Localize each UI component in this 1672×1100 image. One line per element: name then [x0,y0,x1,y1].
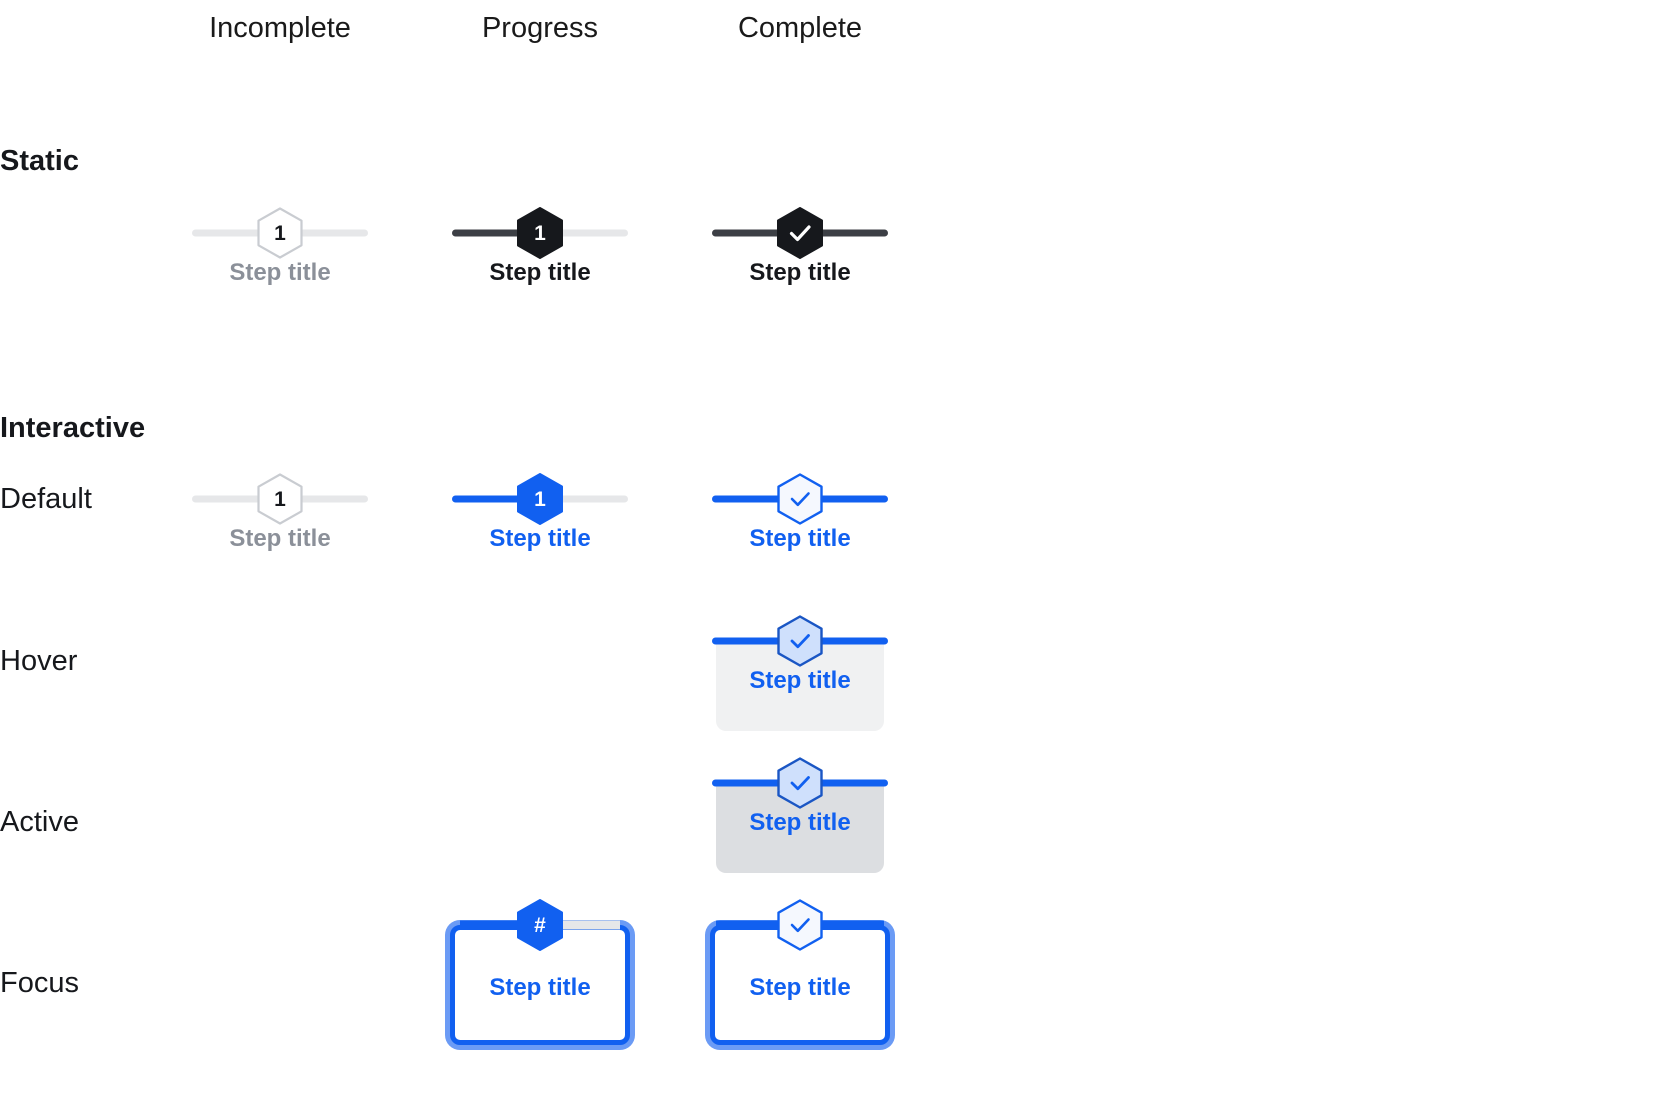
step-static-incomplete: 1 Step title [150,163,410,303]
step-title[interactable]: Step title [410,525,670,553]
row-label-focus: Focus [0,967,79,1000]
row-label-default: Default [0,483,92,516]
step-title[interactable]: Step title [670,667,930,695]
step-static-complete: Step title [670,163,930,303]
step-focus-progress[interactable]: Step title # [410,855,670,995]
hexagon-node-incomplete[interactable]: 1 [257,473,303,525]
hexagon-node-incomplete: 1 [257,207,303,259]
step-hover-complete[interactable]: Step title [670,571,930,711]
hexagon-node-progress: 1 [517,207,563,259]
hexagon-node-complete [777,207,823,259]
hexagon-node-complete[interactable] [777,757,823,809]
step-focus-complete[interactable]: Step title [670,855,930,995]
step-default-incomplete[interactable]: 1 Step title [150,429,410,569]
row-label-hover: Hover [0,645,77,678]
step-title: Step title [150,259,410,287]
step-static-progress: 1 Step title [410,163,670,303]
step-title[interactable]: Step title [455,974,625,1002]
column-header-incomplete: Incomplete [180,12,380,45]
hexagon-node-progress[interactable]: 1 [517,473,563,525]
hexagon-node-progress[interactable]: # [517,899,563,951]
row-label-interactive: Interactive [0,412,145,445]
hexagon-node-complete[interactable] [777,899,823,951]
column-header-complete: Complete [700,12,900,45]
step-title: Step title [670,259,930,287]
row-label-static: Static [0,145,79,178]
step-title[interactable]: Step title [670,525,930,553]
step-default-complete[interactable]: Step title [670,429,930,569]
row-label-active: Active [0,806,79,839]
step-indicator-specimen: Incomplete Progress Complete Static Inte… [0,0,1672,1100]
step-title[interactable]: Step title [670,809,930,837]
step-title: Step title [410,259,670,287]
step-active-complete[interactable]: Step title [670,713,930,853]
step-title[interactable]: Step title [150,525,410,553]
hexagon-node-complete[interactable] [777,473,823,525]
column-header-progress: Progress [440,12,640,45]
step-default-progress[interactable]: 1 Step title [410,429,670,569]
step-title[interactable]: Step title [715,974,885,1002]
hexagon-node-complete[interactable] [777,615,823,667]
